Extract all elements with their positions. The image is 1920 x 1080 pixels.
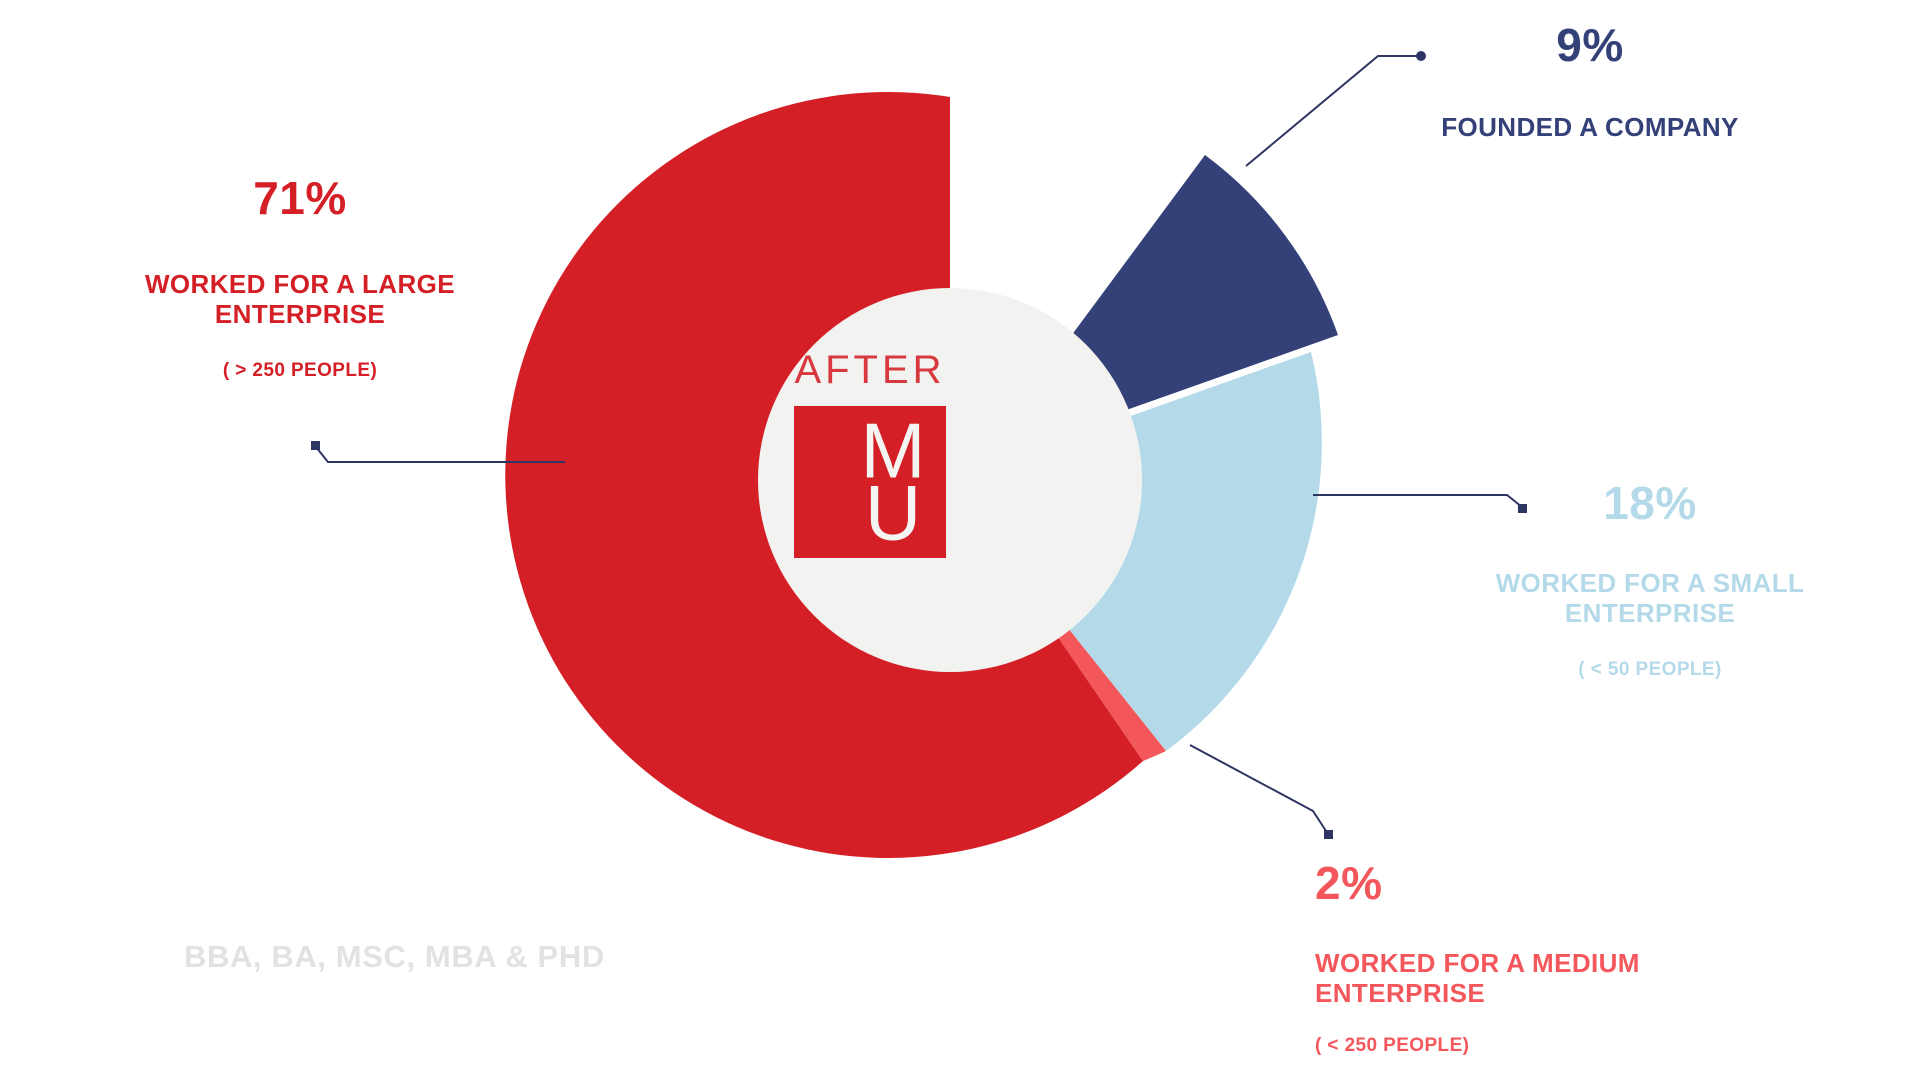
callout-large-enterprise-detail: ( > 250 PEOPLE) [100, 361, 500, 380]
callout-small-enterprise-detail: ( < 50 PEOPLE) [1450, 660, 1850, 679]
degrees-footnote: BBA, BA, MSC, MBA & PHD [184, 939, 605, 975]
callout-small-enterprise-label: WORKED FOR A SMALL ENTERPRISE [1450, 568, 1850, 628]
callout-small-enterprise-percent: 18% [1450, 480, 1850, 526]
callout-founded-company: 9% FOUNDED A COMPANY [1380, 22, 1800, 142]
callout-medium-enterprise: 2% WORKED FOR A MEDIUM ENTERPRISE ( < 25… [1315, 860, 1745, 1055]
callout-small-enterprise: 18% WORKED FOR A SMALL ENTERPRISE ( < 50… [1450, 480, 1850, 679]
leader-line-medium-enterprise [1190, 745, 1333, 839]
callout-medium-enterprise-percent: 2% [1315, 860, 1745, 906]
callout-large-enterprise-percent: 71% [100, 175, 500, 221]
callout-founded-company-percent: 9% [1380, 22, 1800, 68]
infographic-canvas: AFTER M U 71% WORKED FOR A LARGE ENTERPR… [0, 0, 1920, 1080]
callout-founded-company-label: FOUNDED A COMPANY [1380, 112, 1800, 142]
callout-large-enterprise-label: WORKED FOR A LARGE ENTERPRISE [100, 269, 500, 329]
callout-medium-enterprise-detail: ( < 250 PEOPLE) [1315, 1036, 1745, 1055]
callout-large-enterprise: 71% WORKED FOR A LARGE ENTERPRISE ( > 25… [100, 175, 500, 380]
donut-hole [758, 288, 1142, 672]
callout-medium-enterprise-label: WORKED FOR A MEDIUM ENTERPRISE [1315, 948, 1745, 1008]
